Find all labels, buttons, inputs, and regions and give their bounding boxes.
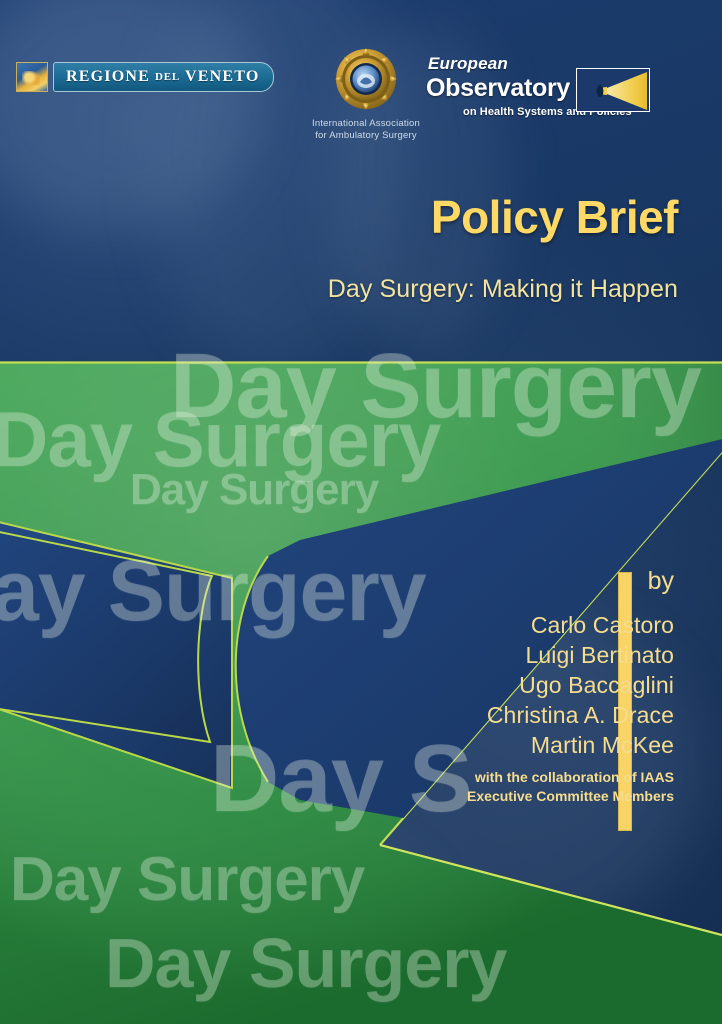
regione-word-del: DEL: [155, 72, 180, 83]
cover-subtitle: Day Surgery: Making it Happen: [0, 275, 678, 304]
document-cover: Day SurgeryDay SurgeryDay SurgeryDay Sur…: [0, 0, 722, 1024]
regione-word-regione: REGIONE: [66, 69, 150, 85]
iaas-emblem-icon: [335, 48, 397, 110]
iaas-logo: International Association for Ambulatory…: [306, 48, 426, 142]
observatory-beacon-icon: [576, 68, 650, 112]
author-name: Martin McKee: [364, 730, 674, 760]
logo-row: REGIONE DEL VENETO: [0, 0, 722, 160]
iaas-label-line1: International Association: [306, 118, 426, 130]
veneto-shield-icon: [16, 62, 48, 92]
observatory-word-observatory: Observatory: [426, 74, 570, 103]
iaas-label-line2: for Ambulatory Surgery: [306, 130, 426, 142]
authors-block: by Carlo Castoro Luigi Bertinato Ugo Bac…: [364, 564, 674, 806]
author-name: Carlo Castoro: [364, 610, 674, 640]
regione-del-veneto-logo: REGIONE DEL VENETO: [16, 62, 274, 92]
author-name: Christina A. Drace: [364, 700, 674, 730]
collaboration-line-2: Executive Committee Members: [364, 787, 674, 806]
cover-title: Policy Brief: [0, 190, 678, 244]
author-name: Ugo Baccaglini: [364, 670, 674, 700]
collaboration-line-1: with the collaboration of IAAS: [364, 768, 674, 787]
regione-wordmark: REGIONE DEL VENETO: [53, 62, 274, 92]
european-observatory-logo: European Observatory on Health Systems a…: [420, 52, 650, 130]
regione-word-veneto: VENETO: [185, 69, 259, 85]
observatory-word-european: European: [428, 54, 508, 74]
author-name: Luigi Bertinato: [364, 640, 674, 670]
authors-by-label: by: [364, 564, 674, 598]
